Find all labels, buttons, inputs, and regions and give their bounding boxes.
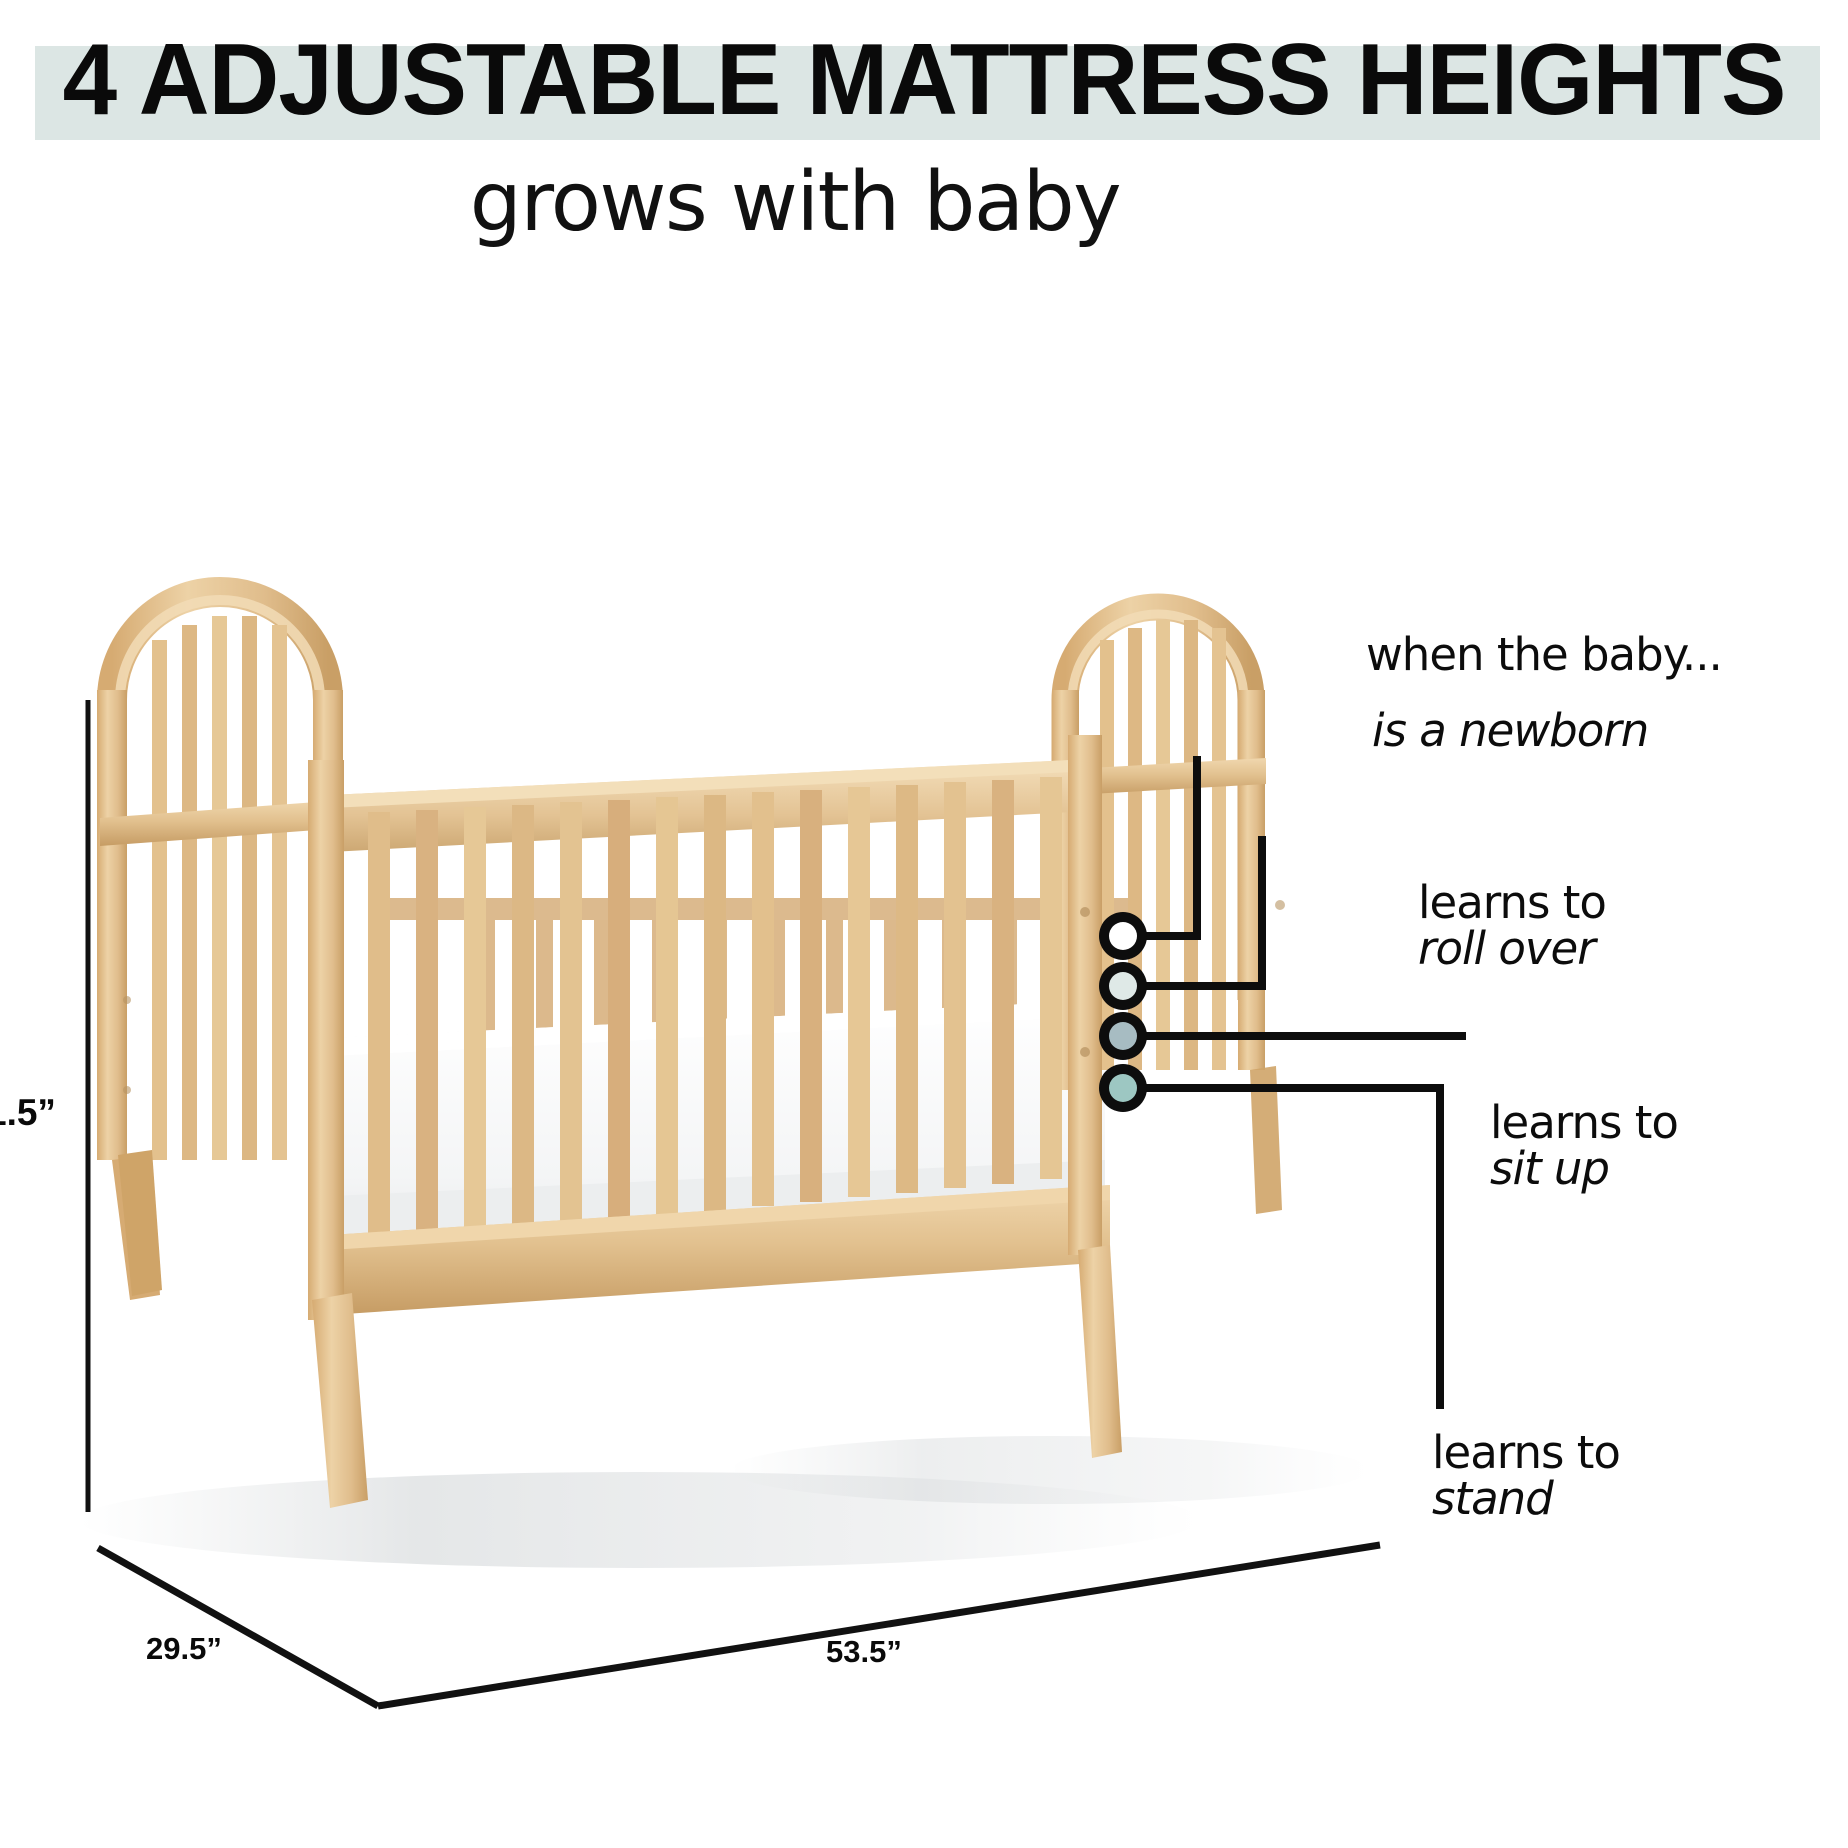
dimension-label-depth: 29.5” (146, 1631, 222, 1667)
dimension-label-width: 53.5” (826, 1634, 902, 1670)
annotation-intro: when the baby... (1366, 632, 1722, 678)
annotation-roll-over: learns to roll over (1418, 880, 1606, 972)
mattress-dot-2[interactable] (1099, 962, 1147, 1010)
crib-front-slats (368, 777, 1062, 1242)
dimension-label-height: 1.5” (0, 1092, 56, 1134)
annotation-sit-up-line2: sit up (1490, 1146, 1678, 1192)
annotation-roll-over-line2: roll over (1418, 926, 1606, 972)
annotation-roll-over-line1: learns to (1418, 880, 1606, 926)
leader-line-stand (1137, 1088, 1440, 1405)
crib-headboard-left (97, 592, 344, 1160)
annotation-sit-up-line1: learns to (1490, 1100, 1678, 1146)
mattress-dot-4[interactable] (1099, 1064, 1147, 1112)
mattress-dot-3[interactable] (1099, 1012, 1147, 1060)
annotation-intro-text: when the baby... (1366, 632, 1722, 678)
annotation-newborn-line2: is a newborn (1372, 708, 1648, 754)
annotation-stand-line1: learns to (1432, 1430, 1620, 1476)
footprint-dimension-lines (98, 1545, 1380, 1706)
infographic-canvas: 4 ADJUSTABLE MATTRESS HEIGHTS grows with… (0, 0, 1848, 1848)
mattress-dot-1[interactable] (1099, 912, 1147, 960)
annotation-newborn: is a newborn (1372, 708, 1648, 754)
annotation-stand: learns to stand (1432, 1430, 1620, 1522)
annotation-stand-line2: stand (1432, 1476, 1620, 1522)
annotation-sit-up: learns to sit up (1490, 1100, 1678, 1192)
